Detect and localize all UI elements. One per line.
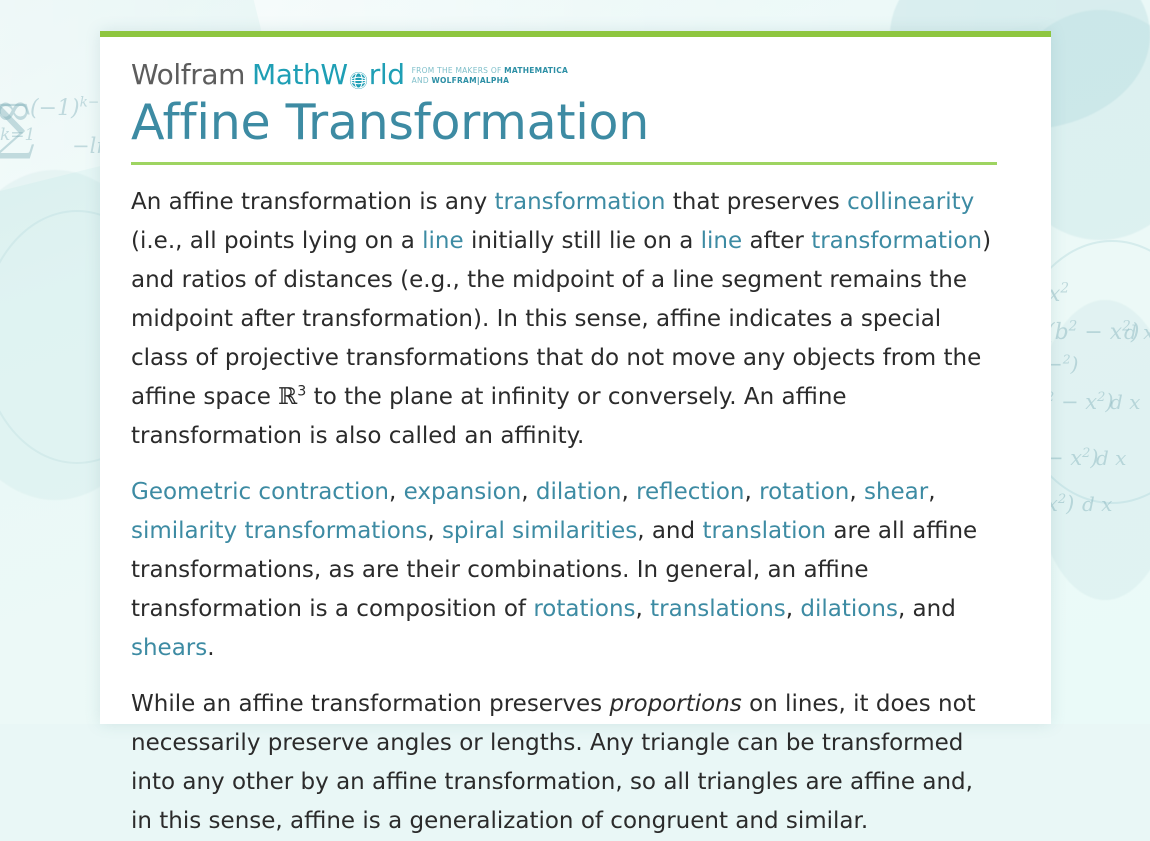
site-logo[interactable]: Wolfram MathW rld FROM THE MAKERS OF MAT… [131,55,997,89]
logo-wolfram-text: Wolfram [131,61,245,89]
tagline-line-1: FROM THE MAKERS OF MATHEMATICA [412,66,568,75]
article-text: An affine transformation is any [131,189,495,215]
tagline-line2-plain: AND [412,76,432,85]
article-link[interactable]: dilation [536,479,622,505]
article-link[interactable]: line [422,228,464,254]
paragraph-definition: An affine transformation is any transfor… [131,183,997,456]
background-formula: 2 − x2) [1046,390,1114,414]
article-link[interactable]: shears [131,635,207,661]
article-link[interactable]: spiral similarities [442,518,637,544]
background-formula: (−1)k−1 [30,96,108,121]
article-text: after [742,228,811,254]
tagline-line1-bold: MATHEMATICA [504,66,568,75]
article-text: initially still lie on a [464,228,701,254]
article-text: , [621,479,636,505]
article-link[interactable]: rotation [759,479,849,505]
article-link[interactable]: Geometric contraction [131,479,389,505]
tagline-line-2: AND WOLFRAM|ALPHA [412,76,510,85]
article-text: , [427,518,442,544]
article-text: that preserves [665,189,847,215]
math-superscript: 3 [297,384,306,400]
article-link[interactable]: line [701,228,743,254]
globe-icon [349,67,368,86]
article-link[interactable]: transformation [811,228,982,254]
page-title: Affine Transformation [131,97,997,148]
article-link[interactable]: similarity transformations [131,518,427,544]
article-text: , [928,479,935,505]
paragraph-examples: Geometric contraction, expansion, dilati… [131,473,997,668]
article-link[interactable]: dilations [800,596,898,622]
article-text: , and [898,596,956,622]
logo-mathworld-text: MathW rld [252,61,405,89]
article-text: While an affine transformation preserves [131,691,609,717]
background-formula: d x [1082,492,1112,516]
background-formula: d x [1110,390,1140,414]
background-formula: d x [1124,320,1150,344]
math-symbol: ℝ [278,384,297,410]
article-text: , [849,479,864,505]
content-card: Wolfram MathW rld FROM THE MAKERS OF MAT… [100,31,1051,724]
article-text: , and [637,518,702,544]
emphasis-text: proportions [609,691,741,717]
article-link[interactable]: collinearity [847,189,974,215]
article-link[interactable]: transformation [495,189,666,215]
article-link[interactable]: expansion [404,479,522,505]
tagline-line1-plain: FROM THE MAKERS OF [412,66,505,75]
logo-rld-text: rld [369,61,405,89]
article-link[interactable]: shear [864,479,928,505]
article-body: An affine transformation is any transfor… [131,183,997,841]
article-text: . [207,635,214,661]
article-text: , [786,596,801,622]
article-link[interactable]: rotations [533,596,635,622]
logo-tagline: FROM THE MAKERS OF MATHEMATICA AND WOLFR… [412,66,568,89]
tagline-line2-bold: WOLFRAM|ALPHA [431,76,509,85]
article-text: , [636,596,651,622]
background-formula: x2 [1048,282,1069,307]
logo-mathw-text: MathW [252,61,348,89]
article-text: , [521,479,536,505]
paragraph-properties: While an affine transformation preserves… [131,685,997,841]
article-text: (i.e., all points lying on a [131,228,422,254]
article-text: , [389,479,404,505]
article-link[interactable]: reflection [636,479,744,505]
title-divider [131,162,997,165]
article-text: , [745,479,760,505]
background-formula: d x [1096,446,1126,470]
background-formula: k=1 [0,125,35,145]
article-link[interactable]: translations [650,596,786,622]
background-formula: − x2) [1046,446,1099,470]
article-link[interactable]: translation [702,518,826,544]
